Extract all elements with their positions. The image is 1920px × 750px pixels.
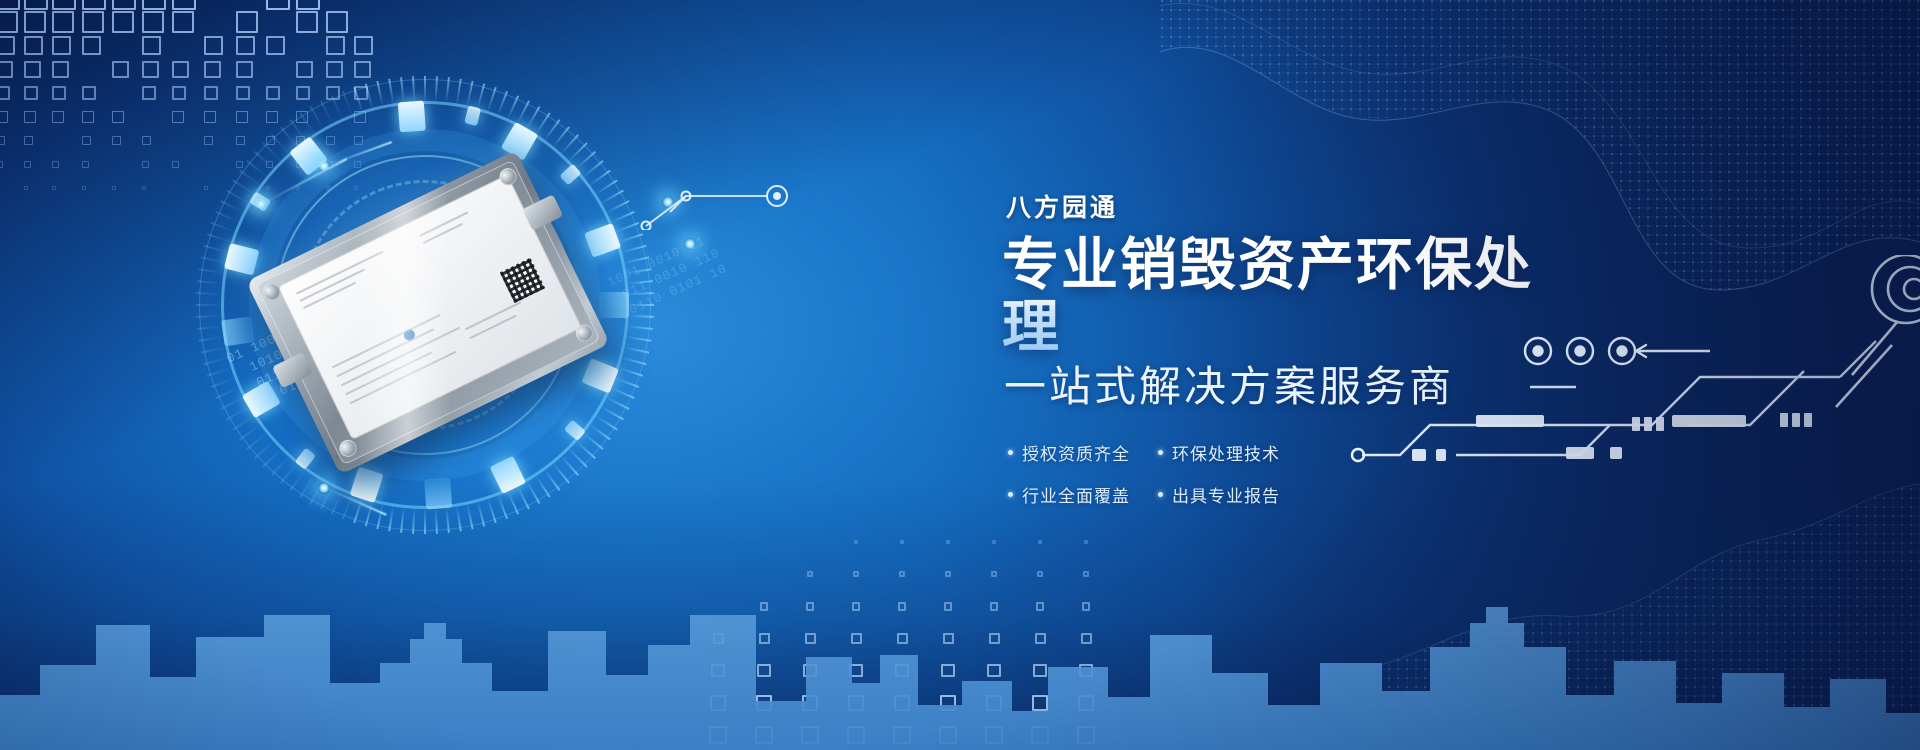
vignette-overlay bbox=[0, 0, 1920, 750]
hero-banner: 1001 0010 11 011 0010 110 0110 0101 10 0… bbox=[0, 0, 1920, 750]
